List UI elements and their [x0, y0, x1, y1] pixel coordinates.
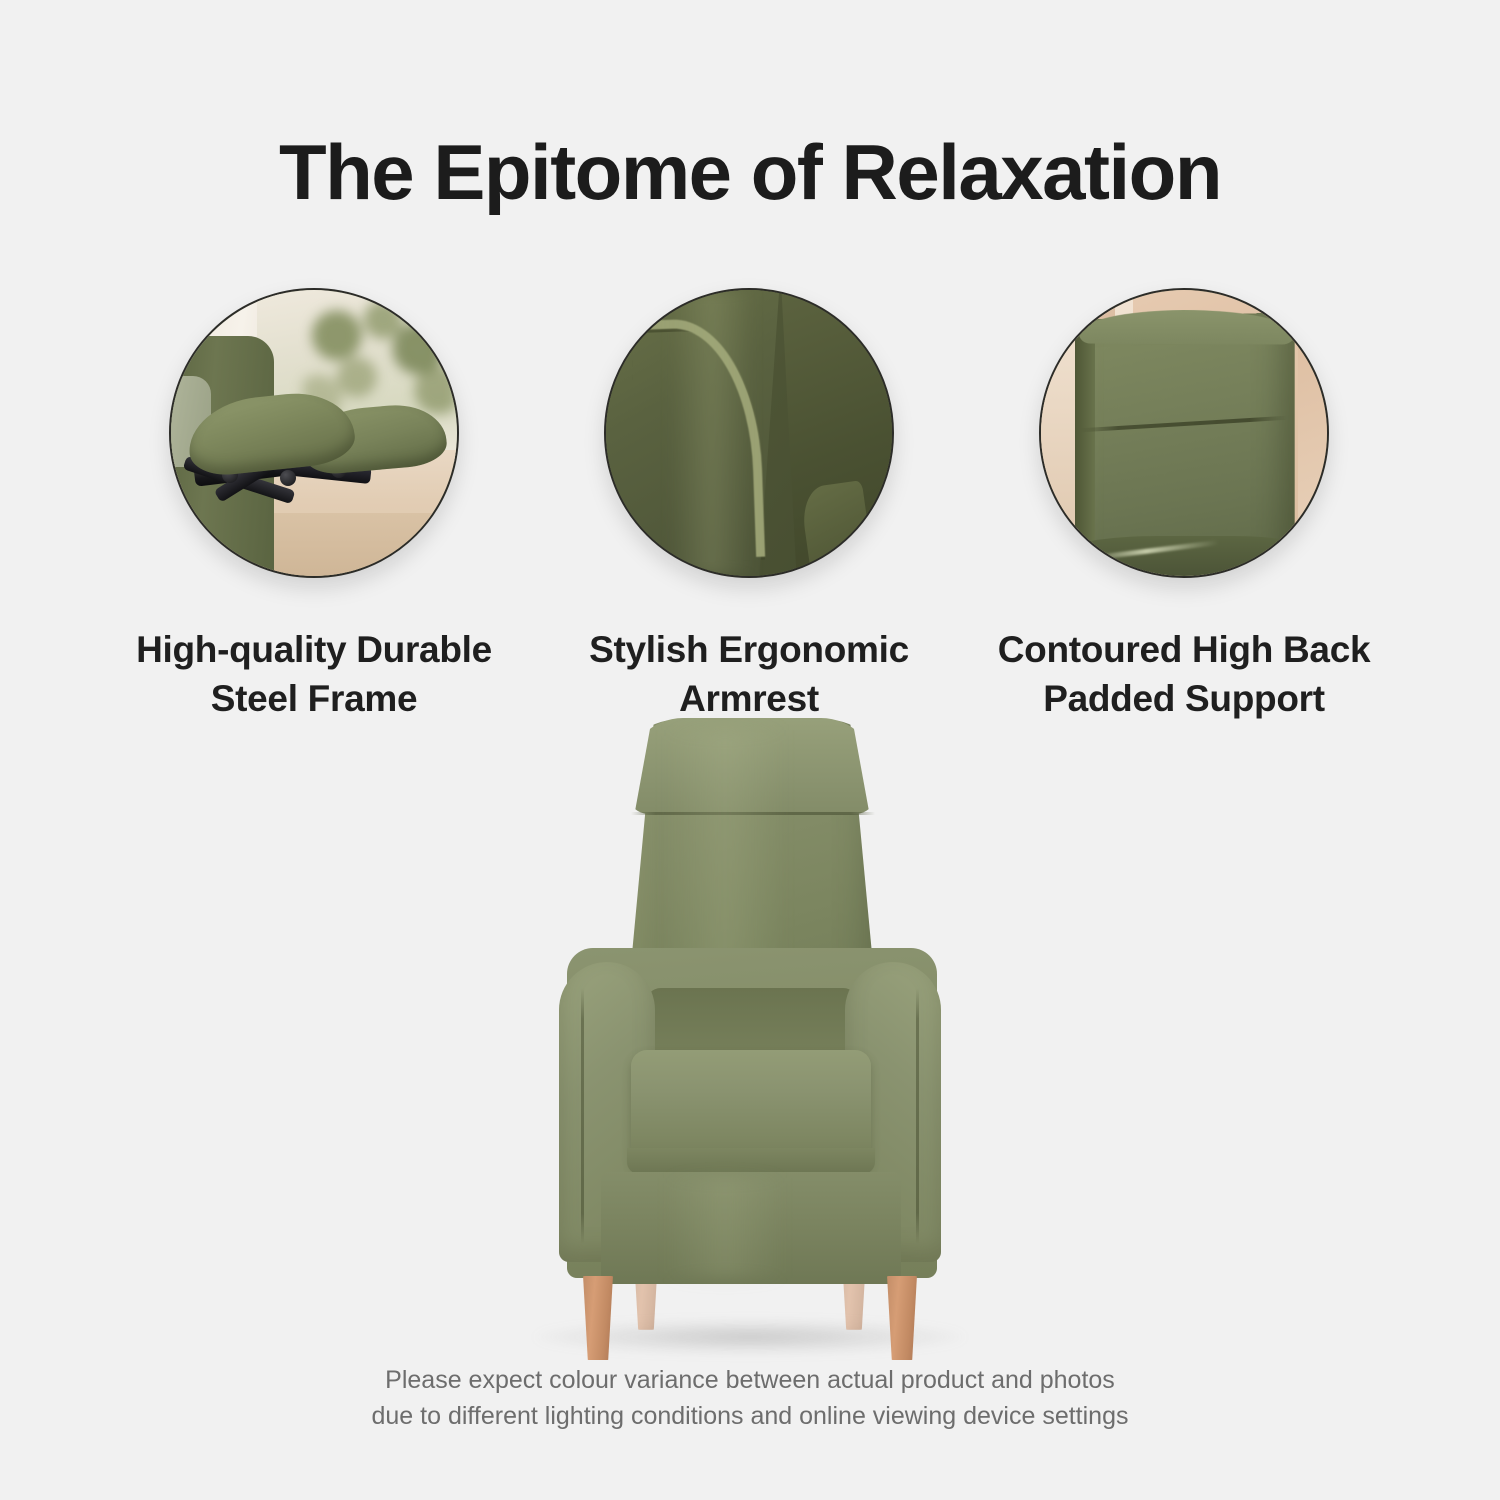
feature-item-high-back: Contoured High Back Padded Support	[967, 288, 1402, 724]
page-title: The Epitome of Relaxation	[0, 132, 1500, 214]
feature-image-steel-frame	[169, 288, 459, 578]
caption-line-1: Contoured High Back	[998, 629, 1371, 670]
feature-list: High-quality Durable Steel Frame Stylish…	[0, 288, 1500, 724]
chair-base-sheen	[665, 1178, 785, 1278]
feature-caption-high-back: Contoured High Back Padded Support	[998, 626, 1371, 724]
chair-seat-front-edge	[627, 1148, 875, 1174]
armrest-illustration	[606, 290, 892, 576]
disclaimer-line-1: Please expect colour variance between ac…	[385, 1366, 1115, 1394]
chair-armrest-seam-right	[916, 988, 919, 1244]
feature-caption-armrest: Stylish Ergonomic Armrest	[589, 626, 909, 724]
feature-item-steel-frame: High-quality Durable Steel Frame	[97, 288, 532, 724]
feature-image-armrest	[604, 288, 894, 578]
caption-line-1: Stylish Ergonomic	[589, 629, 909, 670]
colour-variance-disclaimer: Please expect colour variance between ac…	[0, 1363, 1500, 1434]
high-back-illustration	[1041, 290, 1327, 576]
product-hero-image	[0, 720, 1500, 1380]
chair-armrest-seam-left	[581, 988, 584, 1244]
caption-line-2: Padded Support	[1043, 678, 1325, 719]
feature-caption-steel-frame: High-quality Durable Steel Frame	[136, 626, 492, 724]
feature-image-high-back	[1039, 288, 1329, 578]
caption-line-1: High-quality Durable	[136, 629, 492, 670]
disclaimer-line-2: due to different lighting conditions and…	[372, 1402, 1129, 1430]
feature-item-armrest: Stylish Ergonomic Armrest	[532, 288, 967, 724]
caption-line-2: Steel Frame	[211, 678, 417, 719]
steel-frame-illustration	[171, 290, 457, 576]
recliner-armchair-illustration	[515, 720, 985, 1360]
caption-line-2: Armrest	[679, 678, 819, 719]
